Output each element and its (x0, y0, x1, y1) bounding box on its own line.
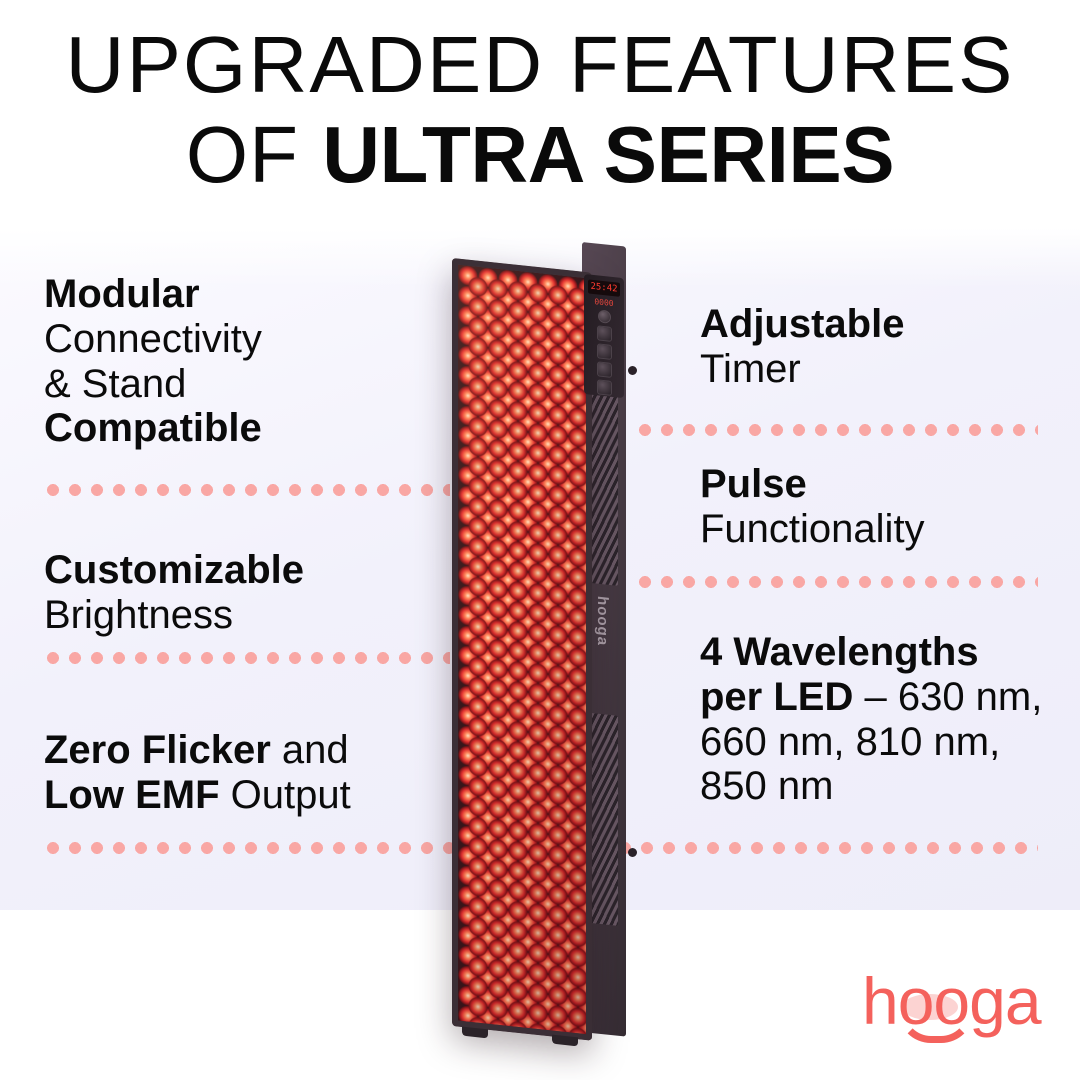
vent-slots-lower-icon (588, 713, 618, 926)
divider-right-1 (634, 424, 1038, 436)
feature-customizable-brightness: Customizable Brightness (44, 548, 444, 638)
feature-wave-bold-2: per LED (700, 675, 853, 719)
power-knob-icon[interactable] (598, 309, 611, 323)
feature-modular-light-1: Connectivity (44, 317, 262, 361)
feature-pulse-bold: Pulse (700, 462, 807, 506)
divider-right-2 (634, 576, 1038, 588)
timer-button-icon[interactable] (597, 343, 612, 360)
feature-zero-flicker-low-emf: Zero Flicker and Low EMF Output (44, 728, 444, 818)
title-line-2: OF ULTRA SERIES (0, 116, 1080, 194)
device-side-brand-label: hooga (594, 595, 611, 647)
feature-flicker-light-1: and (271, 728, 349, 772)
feature-flicker-light-2: Output (220, 773, 351, 817)
logo-smile-icon (898, 1010, 974, 1043)
led-array-offset (468, 276, 586, 1034)
feature-adjustable-timer: Adjustable Timer (700, 302, 1060, 392)
feature-four-wavelengths: 4 Wavelengths per LED – 630 nm, 660 nm, … (700, 630, 1060, 809)
feature-pulse-light: Functionality (700, 507, 925, 551)
device-control-panel[interactable]: 25:42 0000 (584, 274, 624, 398)
device-display-value: 25:42 (590, 282, 617, 294)
feature-flicker-bold-2: Low EMF (44, 773, 220, 817)
product-red-light-panel: hooga 25:42 0000 (432, 236, 648, 1036)
feature-custom-light: Brightness (44, 593, 233, 637)
feature-pulse-functionality: Pulse Functionality (700, 462, 1060, 552)
device-port-cap-lower-icon (628, 848, 637, 857)
title-line-2-prefix: OF (186, 110, 322, 199)
divider-left-2 (42, 652, 450, 664)
mode-button-icon[interactable] (597, 325, 612, 342)
infographic-canvas: UPGRADED FEATURES OF ULTRA SERIES Modula… (0, 0, 1080, 1080)
device-led-face (452, 258, 592, 1041)
feature-modular-light-2: & Stand (44, 362, 186, 406)
device-foot-right (552, 1035, 578, 1047)
page-title: UPGRADED FEATURES OF ULTRA SERIES (0, 26, 1080, 195)
feature-timer-light: Timer (700, 347, 801, 391)
down-button-icon[interactable] (597, 379, 612, 396)
feature-wave-bold-1: 4 Wavelengths (700, 630, 979, 674)
up-button-icon[interactable] (597, 361, 612, 378)
feature-modular-bold-1: Modular (44, 272, 200, 316)
brand-logo: hooga (862, 968, 1052, 1040)
device-display-secondary: 0000 (588, 295, 620, 308)
title-line-2-bold: ULTRA SERIES (322, 110, 894, 199)
device-port-cap-upper-icon (628, 366, 637, 375)
device-button-group[interactable] (588, 324, 620, 396)
device-display-screen: 25:42 (588, 279, 620, 296)
device-foot-left (462, 1027, 488, 1039)
feature-modular-bold-2: Compatible (44, 406, 262, 450)
feature-custom-bold: Customizable (44, 548, 304, 592)
feature-timer-bold: Adjustable (700, 302, 904, 346)
feature-flicker-bold-1: Zero Flicker (44, 728, 271, 772)
title-line-1: UPGRADED FEATURES (0, 26, 1080, 104)
vent-slots-upper-icon (588, 393, 618, 586)
feature-modular-connectivity: Modular Connectivity & Stand Compatible (44, 272, 444, 451)
divider-left-1 (42, 484, 450, 496)
